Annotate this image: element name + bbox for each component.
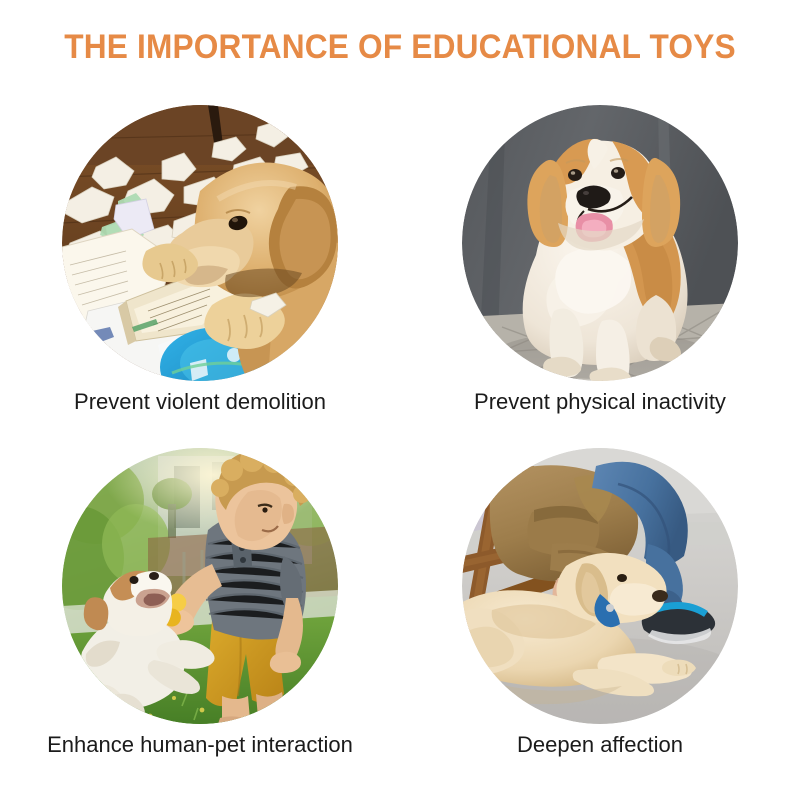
benefit-caption-2: Enhance human-pet interaction: [0, 732, 400, 758]
overweight-beagle-photo: [462, 105, 738, 381]
photo-wrap-0: [62, 105, 338, 381]
photo-wrap-1: [462, 105, 738, 381]
benefit-card-2: Enhance human-pet interaction: [0, 438, 400, 778]
benefit-caption-0: Prevent violent demolition: [0, 389, 400, 415]
boy-playing-with-dog-photo: [62, 448, 338, 724]
photo-wrap-3: [462, 448, 738, 724]
benefit-caption-3: Deepen affection: [400, 732, 800, 758]
benefit-card-1: Prevent physical inactivity: [400, 95, 800, 435]
person-petting-dog-photo: [462, 448, 738, 724]
benefit-card-3: Deepen affection: [400, 438, 800, 778]
benefits-grid: Prevent violent demolition: [0, 95, 800, 775]
benefit-card-0: Prevent violent demolition: [0, 95, 400, 435]
page-title: THE IMPORTANCE OF EDUCATIONAL TOYS: [28, 28, 772, 67]
photo-wrap-2: [62, 448, 338, 724]
benefit-caption-1: Prevent physical inactivity: [400, 389, 800, 415]
dog-chewing-book-photo: [62, 105, 338, 381]
infographic-page: THE IMPORTANCE OF EDUCATIONAL TOYS: [0, 0, 800, 800]
